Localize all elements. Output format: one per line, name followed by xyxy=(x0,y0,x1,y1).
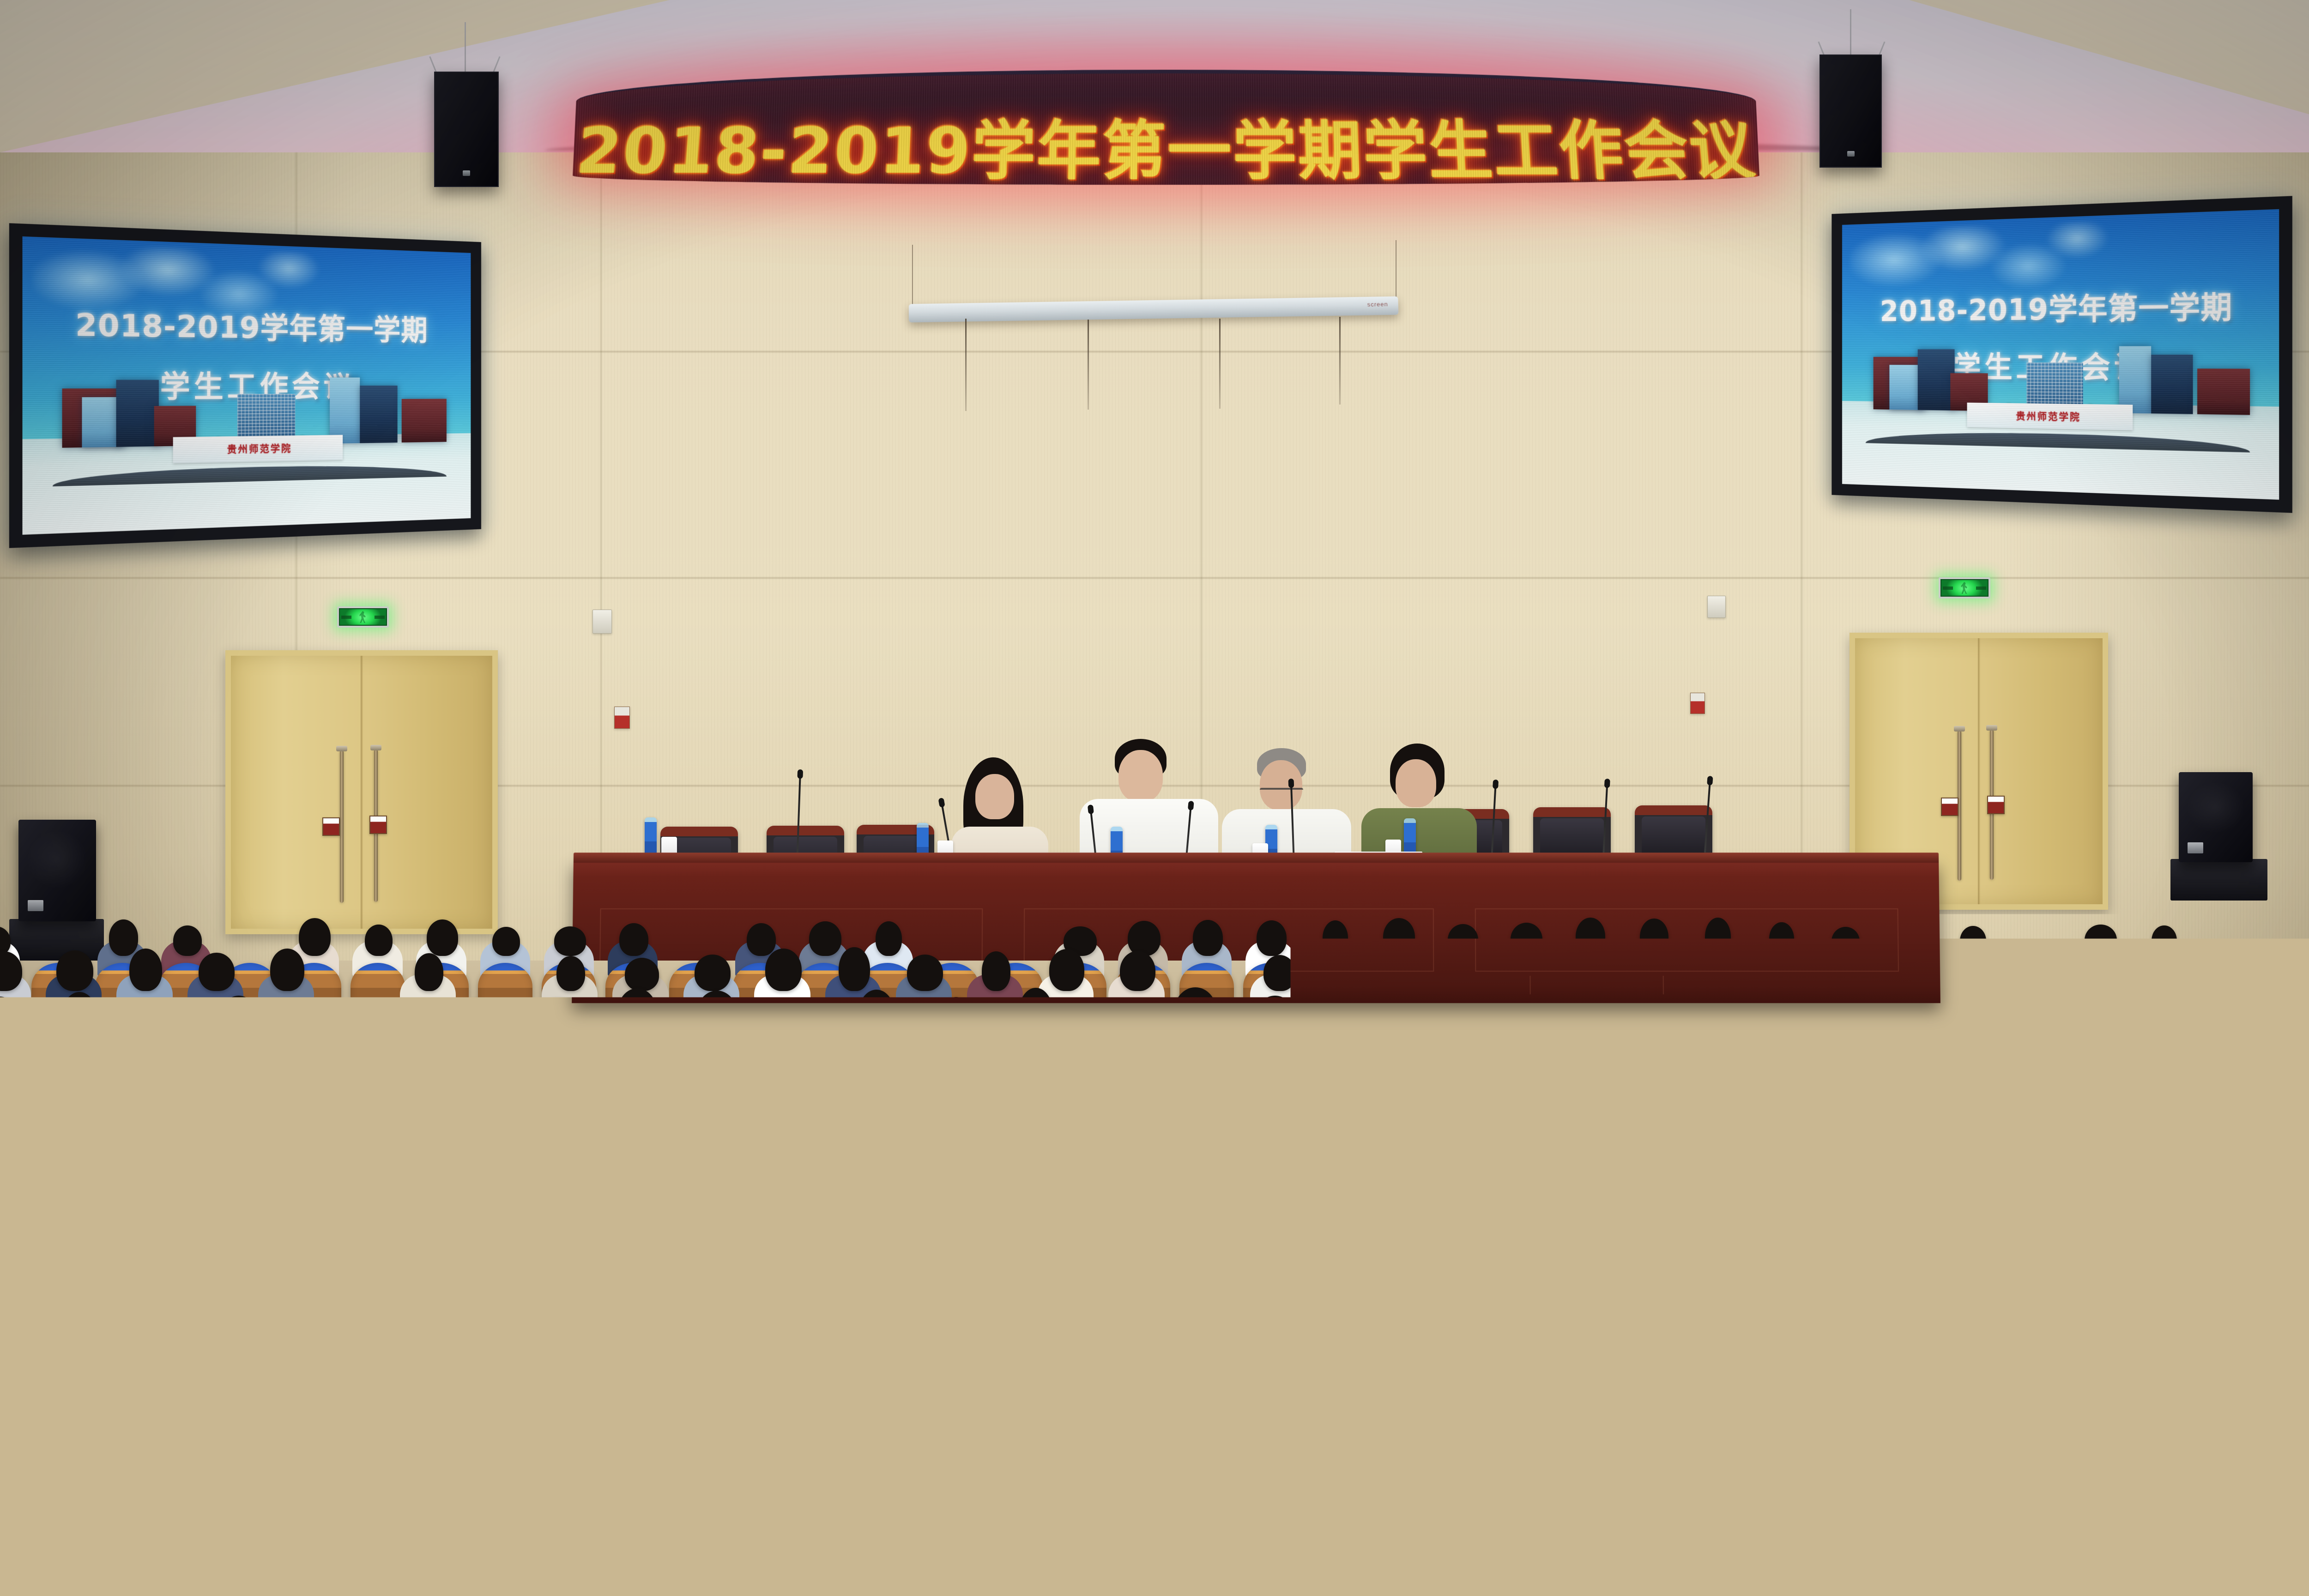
display-screen-right: 2018-2019学年第一学期 学生工作会议 贵州师范学院 xyxy=(1831,196,2292,513)
audience-member-head xyxy=(1359,1109,1402,1164)
audience-member-head xyxy=(2167,1049,2208,1094)
seat-number-badge: 06 xyxy=(1372,1204,1385,1217)
ceiling-speaker-left xyxy=(434,72,499,187)
audience-member-head xyxy=(979,1050,1027,1094)
audience-member-head xyxy=(1829,949,1864,991)
seat-number-badge: 04 xyxy=(499,1298,514,1313)
speaker-cable xyxy=(1850,9,1851,60)
audience-member-head xyxy=(988,1172,1051,1248)
audience-member-head xyxy=(1256,996,1294,1037)
audience-member-head xyxy=(1960,926,1986,956)
audience-member-head xyxy=(1416,1367,1494,1477)
audience-member-head xyxy=(1246,1104,1302,1164)
door-handle[interactable] xyxy=(340,750,344,903)
audience-member-head xyxy=(1128,921,1161,956)
auditorium-photo: 2018-2019学年第一学期学生工作会议 2018-2019学年第一学期 学生… xyxy=(0,0,2309,1596)
seat-number-badge: 02 xyxy=(870,1064,880,1074)
audience-member-head xyxy=(747,923,776,956)
led-banner: 2018-2019学年第一学期学生工作会议 xyxy=(572,70,1760,185)
speaker-cable xyxy=(465,22,466,79)
audience-member-head xyxy=(710,1272,787,1352)
audience-member-head xyxy=(765,949,801,991)
audience-member-head xyxy=(2212,987,2252,1037)
audience-member-head xyxy=(1640,919,1668,955)
exit-sign-left xyxy=(337,606,389,628)
campus-building xyxy=(2151,355,2193,414)
campus-building xyxy=(82,397,121,447)
campus-building xyxy=(2197,369,2250,415)
seat-number-badge: 04 xyxy=(1030,1064,1040,1074)
audience-member-head xyxy=(2134,1172,2200,1248)
seat-number-badge: 03 xyxy=(449,1127,460,1138)
exit-arrow-left-icon xyxy=(1943,586,1953,590)
exit-arrow-right-icon xyxy=(1976,586,1986,590)
speaker-brand-logo xyxy=(28,900,43,911)
seat-number-badge: 01 xyxy=(267,1127,278,1138)
audience-member-head xyxy=(1348,1046,1386,1094)
projector-screen-brand: screen xyxy=(1367,301,1388,308)
seat-number-badge: 03 xyxy=(416,1204,429,1217)
audience-member-head xyxy=(2152,925,2177,956)
audience-member-head xyxy=(2257,954,2286,991)
audience-member-head xyxy=(492,927,520,956)
seat-number-badge: 03 xyxy=(372,1298,387,1313)
audience-member-head xyxy=(413,1260,483,1352)
audience-member-head xyxy=(1705,918,1731,956)
audience-member-head xyxy=(2113,952,2147,991)
campus-monument: 贵州师范学院 xyxy=(173,435,343,463)
audience-member-head xyxy=(1475,955,1510,991)
audience-member-head xyxy=(2041,956,2077,991)
audience-member-head xyxy=(314,1392,409,1477)
audience-member-head xyxy=(427,919,458,956)
panelist-head xyxy=(975,774,1014,819)
audience-member-head xyxy=(2006,1176,2073,1248)
audience-member-head xyxy=(2085,925,2117,955)
head-table-top-edge xyxy=(574,852,1939,863)
audience-member-head xyxy=(525,1051,569,1094)
seat-number-badge: 05 xyxy=(1725,1127,1736,1138)
audience-member-head xyxy=(67,1040,116,1094)
audience-member-head xyxy=(721,1102,765,1164)
audience-member-head xyxy=(697,991,737,1037)
audience-member-head xyxy=(939,997,973,1037)
audience-member-head xyxy=(1686,953,1723,991)
floor-speaker-left xyxy=(18,820,96,921)
audience-member-head xyxy=(1406,956,1437,991)
seat-number-badge: 05 xyxy=(2158,1298,2173,1313)
audience-member-head xyxy=(1525,1051,1574,1094)
audience-member-head xyxy=(1766,1273,1831,1352)
audience-member-head xyxy=(809,921,841,956)
seat-number-badge: 02 xyxy=(1585,1204,1598,1217)
audience-member-head xyxy=(1095,1000,1136,1037)
door-plate xyxy=(1987,796,2005,814)
seat-number-badge: 01 xyxy=(1478,1204,1491,1217)
audience-member-head xyxy=(437,1048,476,1094)
audience-member-head xyxy=(1140,1098,1196,1164)
audience-member-head xyxy=(142,1370,216,1477)
audience-member-head xyxy=(1120,951,1155,991)
audience-member-head xyxy=(1974,953,2002,991)
seat-number-badge: 01 xyxy=(2116,1204,2129,1217)
campus-building xyxy=(360,386,398,443)
audience-member-head xyxy=(1576,918,1606,956)
monument-inscription: 贵州师范学院 xyxy=(1967,408,2133,424)
seat-number-badge: 05 xyxy=(2271,1127,2282,1138)
audience-member-head xyxy=(189,1101,233,1164)
audience-member-head xyxy=(1708,1050,1756,1094)
seat-number-badge: 04 xyxy=(2180,1127,2191,1138)
audience-member-head xyxy=(56,950,93,991)
projector-screen-cord[interactable] xyxy=(1339,317,1341,405)
audience-member-head xyxy=(1769,922,1794,955)
exit-sign-right xyxy=(1939,577,1990,598)
fire-alarm-box[interactable] xyxy=(1690,693,1705,714)
projector-screen-cord[interactable] xyxy=(1219,319,1221,409)
audience-member-head xyxy=(1011,1277,1086,1352)
audience-member-head xyxy=(296,1105,339,1164)
door-left[interactable] xyxy=(225,650,498,934)
audience-member-head xyxy=(2204,1106,2257,1164)
audience-member-head xyxy=(1675,1099,1723,1164)
audience-member-head xyxy=(1163,1041,1207,1094)
fire-alarm-box[interactable] xyxy=(614,707,630,729)
audience-member-head xyxy=(1383,918,1415,956)
audience-member-head xyxy=(871,1388,945,1477)
panelist-head xyxy=(1396,759,1436,807)
speaker-brand-logo xyxy=(2188,842,2203,853)
seat-number-badge: 03 xyxy=(164,1554,187,1577)
seat-number-badge: 01 xyxy=(203,1204,216,1217)
campus-building xyxy=(1890,365,1922,410)
audience-member-head xyxy=(2186,951,2216,991)
speaker-stand-left xyxy=(9,919,104,961)
seat-number-badge: 04 xyxy=(1633,1127,1644,1138)
audience-member-head xyxy=(1654,988,1693,1037)
seat-number-badge: 01 xyxy=(840,1204,853,1217)
projector-screen-cord[interactable] xyxy=(1088,320,1089,410)
display-screen-left: 2018-2019学年第一学期 学生工作会议 贵州师范学院 xyxy=(9,223,481,548)
audience-member-head xyxy=(858,990,895,1037)
seat-number-badge: 04 xyxy=(1439,1554,1463,1577)
audience-member-head xyxy=(625,958,659,991)
led-banner-text: 2018-2019学年第一学期学生工作会议 xyxy=(572,99,1760,185)
wall-outlet-box xyxy=(592,610,612,634)
speaker-stand-right xyxy=(2170,859,2267,901)
seat-number-badge: 05 xyxy=(1392,1298,1408,1313)
campus-building xyxy=(2119,346,2151,413)
seat-number-badge: 01 xyxy=(882,1298,897,1313)
door-plate xyxy=(1941,798,1958,816)
audience-member-head xyxy=(1228,1392,1317,1478)
audience-member-head xyxy=(109,919,139,955)
audience-member-head xyxy=(1759,956,1792,991)
audience-member-head xyxy=(268,1277,328,1352)
door-center-split xyxy=(1978,638,1980,904)
campus-building xyxy=(116,380,159,447)
panelist-head xyxy=(1118,750,1163,802)
audience-member-head xyxy=(619,1046,658,1094)
audience-member-head xyxy=(1019,988,1053,1037)
audience-member-head xyxy=(1323,920,1348,956)
audience-member-head xyxy=(780,999,814,1037)
audience-member-head xyxy=(129,949,162,991)
audience-member-head xyxy=(1435,1050,1481,1094)
audience-member-head xyxy=(1614,1269,1683,1352)
seat-number-badge: 03 xyxy=(2089,1127,2100,1138)
audience-member-head xyxy=(501,1379,586,1477)
audience-member-head xyxy=(1548,957,1578,991)
audience-member-head xyxy=(1310,1261,1387,1352)
audience-member-head xyxy=(251,1038,297,1094)
panelist-head xyxy=(1260,760,1302,810)
audience-member-head xyxy=(1193,920,1223,955)
glasses-icon xyxy=(1260,788,1303,795)
audience-member-head xyxy=(539,998,576,1037)
audience-member-head xyxy=(173,925,202,956)
audience-member-head xyxy=(415,953,443,991)
screen-left-title-line1: 2018-2019学年第一学期 xyxy=(23,299,471,349)
audience-member-head xyxy=(564,1274,633,1352)
audience-member-head xyxy=(1257,920,1287,956)
seat-number-badge: 06 xyxy=(736,1414,755,1433)
audience-member-head xyxy=(1918,1267,1980,1352)
audience-member-head xyxy=(1174,987,1216,1037)
audience-member-head xyxy=(1893,1038,1934,1094)
audience-member-head xyxy=(1987,1041,2024,1094)
audience-member-head xyxy=(604,1177,669,1248)
audience-member-head xyxy=(1115,1188,1179,1248)
seat-number-badge: 03 xyxy=(950,1064,960,1074)
audience-member-head xyxy=(1629,1172,1685,1248)
audience-member-head xyxy=(1799,1043,1846,1094)
audience-member-head xyxy=(1465,1110,1508,1163)
audience-member-head xyxy=(982,951,1011,991)
campus-building xyxy=(330,377,360,443)
audience-member-head xyxy=(221,996,257,1037)
monument-inscription: 贵州师范学院 xyxy=(173,441,343,457)
audience-member-head xyxy=(708,1046,751,1094)
audience-member-head xyxy=(2258,1043,2299,1094)
seat-number-badge: 05 xyxy=(529,1554,552,1577)
projector-screen-wire xyxy=(912,245,913,305)
audience-member-head xyxy=(2055,996,2090,1037)
audience-member-head xyxy=(62,992,97,1037)
seat-number-badge: 02 xyxy=(1451,1127,1463,1138)
audience-member-head xyxy=(1073,1046,1115,1094)
seat-number-badge: 01 xyxy=(1787,1414,1806,1433)
seat-number-badge: 02 xyxy=(2169,1554,2192,1577)
seat-number-badge: 04 xyxy=(540,1127,551,1138)
audience-member-head xyxy=(1733,991,1774,1037)
audience-member-head xyxy=(1052,1385,1128,1478)
audience-member-head xyxy=(695,955,731,991)
audience-member-head xyxy=(556,956,585,991)
screen-left-content: 2018-2019学年第一学期 学生工作会议 贵州师范学院 xyxy=(23,236,471,535)
seat-number-badge: 03 xyxy=(1902,1298,1917,1313)
audience-member-head xyxy=(907,955,943,991)
audience-member-head xyxy=(1995,1103,2042,1164)
seat-number-badge: 03 xyxy=(1186,1414,1205,1433)
audience-member-head xyxy=(839,947,870,991)
audience-member-head xyxy=(299,918,331,956)
audience-member-head xyxy=(1892,989,1934,1037)
water-bottle[interactable] xyxy=(645,817,657,856)
audience-member-head xyxy=(2218,1277,2279,1352)
door-plate xyxy=(322,817,340,836)
audience-member-head xyxy=(479,1170,540,1249)
audience-member-head xyxy=(1049,949,1084,991)
audience-member-head xyxy=(1781,1109,1830,1163)
seat-number-badge: 05 xyxy=(1588,1064,1597,1074)
projector-screen-cord[interactable] xyxy=(965,319,967,411)
audience-member-head xyxy=(1461,1263,1536,1352)
ceiling-speaker-right xyxy=(1819,54,1882,168)
wall-outlet-box xyxy=(1707,596,1726,618)
audience-member-head xyxy=(199,953,235,991)
seat-number-badge: 02 xyxy=(1075,1554,1098,1577)
audience-member-head xyxy=(617,988,657,1037)
door-plate xyxy=(369,816,387,834)
audience-member-head xyxy=(1572,1098,1615,1164)
audience-member-head xyxy=(365,925,392,955)
audience-member-head xyxy=(457,998,499,1037)
seat-number-badge: 04 xyxy=(2030,1298,2045,1313)
audience-member-head xyxy=(2146,1380,2222,1477)
exit-arrow-right-icon xyxy=(375,616,385,619)
audience-member-head xyxy=(270,949,304,991)
audience-member-head xyxy=(619,923,649,956)
seat-number-badge: 02 xyxy=(1937,1414,1956,1433)
audience-member-head xyxy=(876,921,902,956)
seat-number-badge: 06 xyxy=(711,1554,734,1577)
audience-member-head xyxy=(1252,1040,1301,1094)
seat-number-badge: 03 xyxy=(1257,1554,1281,1577)
seat-number-badge: 06 xyxy=(2146,1064,2156,1074)
screen-right-title-line1: 2018-2019学年第一学期 xyxy=(1842,282,2279,330)
audience-member-head xyxy=(2136,996,2168,1037)
seat-number-badge: 02 xyxy=(244,1298,260,1313)
audience-member-head xyxy=(732,1178,796,1248)
seat-number-badge: 03 xyxy=(1137,1298,1152,1313)
audience-member-head xyxy=(1816,997,1850,1037)
seat-number-badge: 05 xyxy=(1622,1554,1645,1577)
audience-member-head xyxy=(1248,1172,1301,1248)
screen-right-content: 2018-2019学年第一学期 学生工作会议 贵州师范学院 xyxy=(1842,209,2279,500)
audience-member-head xyxy=(554,926,586,955)
exit-arrow-left-icon xyxy=(341,616,351,619)
audience-member-head xyxy=(1263,955,1296,991)
seat-number-badge: 01 xyxy=(312,1064,322,1074)
audience-member-head xyxy=(1974,997,2011,1037)
seat-number-badge: 02 xyxy=(309,1204,322,1217)
projector-screen-wire xyxy=(1396,240,1396,300)
audience-member-head xyxy=(220,1175,288,1248)
audience-member-head xyxy=(1337,992,1372,1037)
panel-chair-empty[interactable] xyxy=(1635,805,1712,860)
campus-monument: 贵州师范学院 xyxy=(1967,403,2133,430)
campus-building xyxy=(402,399,447,442)
audience-member-head xyxy=(354,1185,410,1248)
audience-member-head xyxy=(1883,1102,1941,1164)
door-center-split xyxy=(361,656,363,929)
audience-member-head xyxy=(889,1042,935,1094)
audience-member-head xyxy=(1040,1108,1083,1164)
campus-building xyxy=(1918,349,1955,411)
audience-member-head xyxy=(1499,1171,1560,1248)
audience-member-head xyxy=(1511,923,1542,956)
seat-number-badge: 04 xyxy=(1264,1298,1280,1313)
audience-member-head xyxy=(1494,996,1534,1037)
seat-number-badge: 04 xyxy=(2237,1414,2256,1433)
audience-member-head xyxy=(96,1178,157,1248)
audience-member-head xyxy=(1616,956,1651,991)
seat-number-badge: 04 xyxy=(1508,1064,1518,1074)
audience-member-head xyxy=(160,1040,206,1094)
audience-member-head xyxy=(1593,1372,1680,1478)
audience-member-head xyxy=(397,1100,450,1164)
audience-member-head xyxy=(1448,924,1478,956)
audience-member-head xyxy=(80,1105,130,1164)
audience-member-head xyxy=(1413,991,1456,1037)
audience-member-head xyxy=(1880,1177,1944,1248)
floor-speaker-right xyxy=(2179,772,2253,862)
audience-member-head xyxy=(1333,950,1367,991)
seat-number-badge: 01 xyxy=(2225,1064,2235,1074)
